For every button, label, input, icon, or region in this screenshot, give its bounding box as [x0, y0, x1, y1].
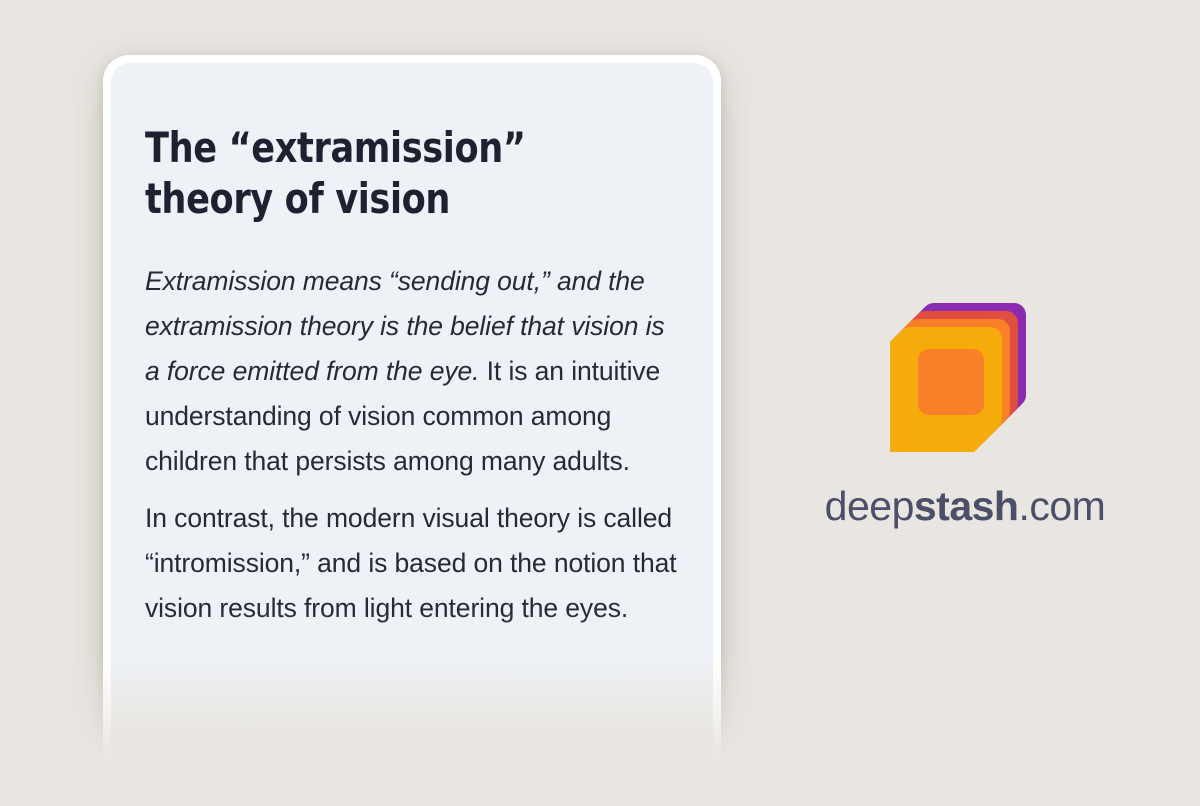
brand-block: deepstash.com: [760, 300, 1170, 530]
card-title: The “extramission” theory of vision: [145, 122, 642, 224]
card-content: The “extramission” theory of vision Extr…: [111, 63, 713, 631]
brand-wordmark: deepstash.com: [760, 482, 1170, 530]
wordmark-deep: deep: [825, 483, 914, 529]
card-surface: The “extramission” theory of vision Extr…: [111, 63, 713, 800]
card-paragraph-1: Extramission means “sending out,” and th…: [145, 259, 679, 484]
idea-card[interactable]: The “extramission” theory of vision Extr…: [103, 55, 721, 800]
card-frame: The “extramission” theory of vision Extr…: [103, 55, 721, 800]
deepstash-logo-icon: [890, 300, 1040, 452]
wordmark-domain: .com: [1018, 483, 1105, 529]
wordmark-stash: stash: [914, 483, 1019, 529]
card-paragraph-2: In contrast, the modern visual theory is…: [145, 496, 679, 631]
card-text-fade-overlay: [111, 610, 713, 800]
